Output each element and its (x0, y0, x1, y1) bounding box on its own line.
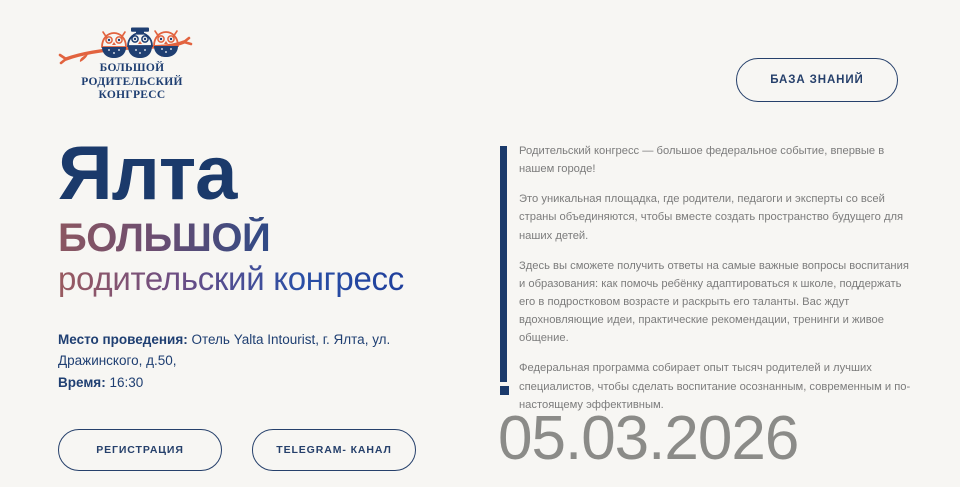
hero-big-word: БОЛЬШОЙ (58, 217, 270, 259)
landing-page: БОЛЬШОЙ РОДИТЕЛЬСКИЙ КОНГРЕСС БАЗА ЗНАНИ… (0, 0, 960, 487)
venue-place-label: Место проведения: (58, 332, 188, 347)
description-paragraph-3: Здесь вы сможете получить ответы на самы… (519, 257, 912, 348)
event-description-block: Родительский конгресс — большое федераль… (500, 142, 912, 414)
description-paragraph-1: Родительский конгресс — большое федераль… (519, 142, 912, 178)
logo-wordmark: БОЛЬШОЙ РОДИТЕЛЬСКИЙ КОНГРЕСС (74, 62, 190, 103)
knowledge-base-button[interactable]: БАЗА ЗНАНИЙ (736, 58, 898, 102)
telegram-channel-button[interactable]: TELEGRAM- КАНАЛ (252, 429, 416, 471)
accent-bar (500, 146, 507, 382)
logo-line-2: РОДИТЕЛЬСКИЙ (74, 76, 190, 90)
logo-line-1: БОЛЬШОЙ (74, 62, 190, 76)
hero-headline: Ялта БОЛЬШОЙ родительский конгресс (58, 138, 488, 298)
site-logo[interactable]: БОЛЬШОЙ РОДИТЕЛЬСКИЙ КОНГРЕСС (58, 26, 198, 108)
logo-line-3: КОНГРЕСС (74, 89, 190, 103)
cta-button-row: РЕГИСТРАЦИЯ TELEGRAM- КАНАЛ (58, 429, 416, 471)
event-date: 05.03.2026 (498, 408, 798, 470)
description-paragraph-2: Это уникальная площадка, где родители, п… (519, 190, 912, 244)
venue-place-row: Место проведения: Отель Yalta Intourist,… (58, 330, 458, 372)
hero-subtitle: родительский конгресс (58, 261, 404, 297)
three-owls-on-branch-icon (58, 26, 198, 66)
event-description-text: Родительский конгресс — большое федераль… (519, 142, 912, 414)
accent-square-marker (500, 386, 509, 395)
hero-city: Ялта (58, 138, 488, 209)
venue-time-label: Время: (58, 375, 106, 390)
registration-button[interactable]: РЕГИСТРАЦИЯ (58, 429, 222, 471)
venue-info: Место проведения: Отель Yalta Intourist,… (58, 330, 458, 394)
venue-time-row: Время: 16:30 (58, 373, 458, 394)
venue-time-value: 16:30 (106, 375, 144, 390)
